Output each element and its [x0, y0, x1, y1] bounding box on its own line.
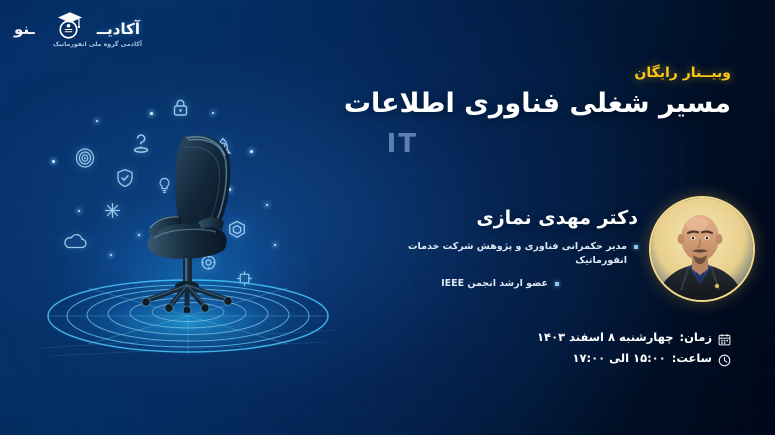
- webinar-banner: آکادیــ ـنو آکادمی گروه ملی انفورماتیک: [0, 0, 775, 435]
- avatar: [649, 196, 755, 302]
- sparkle-dot: [96, 120, 98, 122]
- schedule-row-time: ساعت: ۱۵:۰۰ الی ۱۷:۰۰: [537, 351, 731, 365]
- logo-wordmark-left: ـنو: [14, 20, 35, 38]
- speaker-credentials: مدیر حکمرانی فناوری و پژوهش شرکت خدمات ا…: [388, 240, 638, 299]
- speaker-portrait: [649, 198, 753, 302]
- speaker-name: دکتر مهدی نمازی: [476, 207, 638, 229]
- logo-wordmark-right: آکادیــ: [97, 20, 140, 38]
- office-chair-tech-illustration: [18, 92, 358, 360]
- schedule-label-time: ساعت:: [672, 351, 712, 365]
- cloud-icon: [62, 234, 88, 254]
- snowflake-icon: [104, 202, 121, 223]
- sparkle-dot: [150, 112, 153, 115]
- schedule-value-date: چهارشنبه ۸ اسفند ۱۴۰۳: [537, 330, 673, 344]
- list-item: عضو ارشد انجمن IEEE: [388, 277, 638, 291]
- headline-subtitle-it: IT: [387, 129, 418, 159]
- bullet-square-icon: [634, 245, 638, 249]
- padlock-icon: [172, 98, 189, 121]
- sparkle-dot: [110, 254, 112, 256]
- credential-text: عضو ارشد انجمن IEEE: [441, 277, 548, 291]
- page-title: مسیر شغلی فناوری اطلاعات: [344, 88, 731, 119]
- content-panel: وبیــنار رایگان مسیر شغلی فناوری اطلاعات…: [313, 0, 733, 435]
- brand-logo[interactable]: آکادیــ ـنو آکادمی گروه ملی انفورماتیک: [14, 8, 142, 54]
- credential-text: مدیر حکمرانی فناوری و پژوهش شرکت خدمات ا…: [388, 240, 627, 268]
- clock-icon: [718, 352, 731, 365]
- sparkle-dot: [52, 160, 55, 163]
- eyebrow-free-webinar: وبیــنار رایگان: [634, 65, 731, 81]
- bullet-square-icon: [555, 282, 559, 286]
- sparkle-dot: [78, 210, 80, 212]
- schedule-value-time: ۱۵:۰۰ الی ۱۷:۰۰: [572, 351, 665, 365]
- logo-subtitle: آکادمی گروه ملی انفورماتیک: [53, 41, 142, 48]
- list-item: مدیر حکمرانی فناوری و پژوهش شرکت خدمات ا…: [388, 240, 638, 268]
- calendar-icon: [718, 331, 731, 344]
- office-chair-graphic: [126, 128, 276, 313]
- schedule-label-date: زمان:: [680, 330, 712, 344]
- graduation-cap-logo-icon: [52, 10, 88, 40]
- schedule-block: زمان: چهارشنبه ۸ اسفند ۱۴۰۳ ساعت: ۱۵:۰۰ …: [537, 330, 731, 372]
- sparkle-dot: [212, 112, 214, 114]
- fingerprint-icon: [74, 147, 96, 173]
- schedule-row-date: زمان: چهارشنبه ۸ اسفند ۱۴۰۳: [537, 330, 731, 344]
